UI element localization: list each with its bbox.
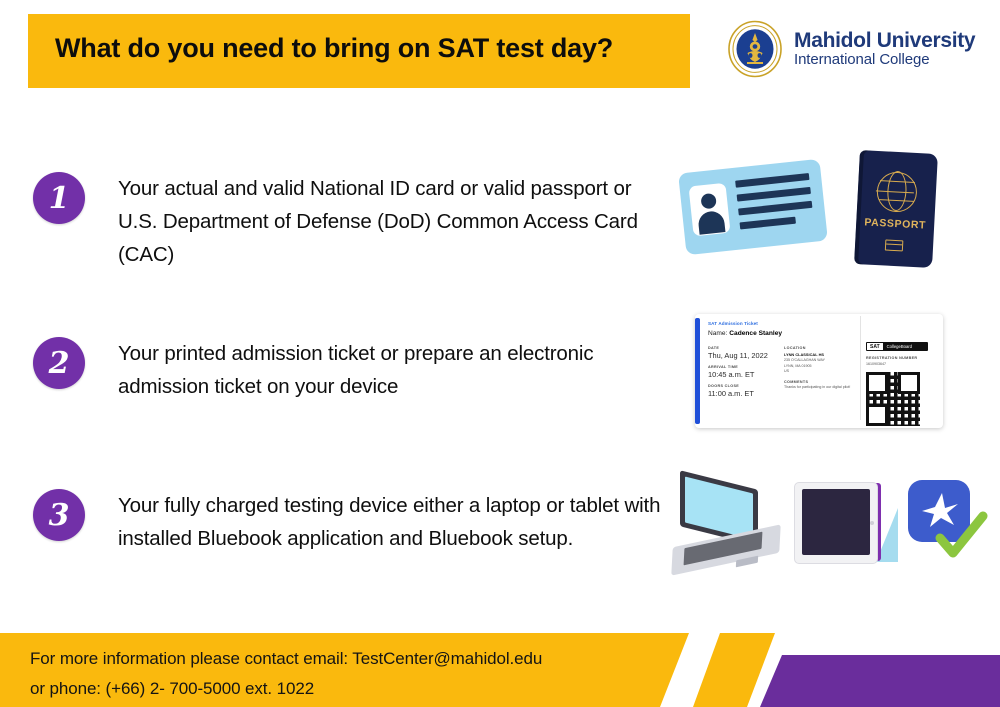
ticket-name-row: Name: Cadence Stanley <box>708 330 938 337</box>
ticket-column-registration: SAT CollegeBoard REGISTRATION NUMBER 161… <box>866 341 938 426</box>
passport-label: PASSPORT <box>856 216 935 232</box>
item-text: Your fully charged testing device either… <box>118 489 663 555</box>
sat-brand-label: SAT <box>866 342 884 351</box>
ticket-column-location: LOCATION LYNN CLASSICAL HS 235 O'CALLAGH… <box>784 341 866 426</box>
ticket-arrival-label: ARRIVAL TIME <box>708 365 784 369</box>
globe-icon <box>876 171 918 213</box>
list-item: 1 Your actual and valid National ID card… <box>33 172 658 272</box>
id-card-icon <box>678 159 828 255</box>
ticket-registration-value: 1610903647 <box>866 362 938 368</box>
admission-ticket-illustration: SAT Admission Ticket Name: Cadence Stanl… <box>695 314 945 432</box>
passport-chip-icon <box>885 239 904 251</box>
list-item: 3 Your fully charged testing device eith… <box>33 489 663 555</box>
ticket-doors-value: 11:00 a.m. ET <box>708 389 784 398</box>
ticket-location-country: US <box>784 369 789 373</box>
ticket-date-label: DATE <box>708 346 784 350</box>
green-check-icon <box>934 510 988 564</box>
item-text: Your actual and valid National ID card o… <box>118 172 658 272</box>
collegeboard-sat-logo: SAT CollegeBoard <box>866 342 928 351</box>
passport-icon: PASSPORT <box>854 150 938 268</box>
ticket-name-label: Name: <box>708 330 727 337</box>
page-footer: For more information please contact emai… <box>0 632 1000 707</box>
id-photo-icon <box>689 183 731 237</box>
item-number-badge: 1 <box>33 172 85 224</box>
footer-purple-shape <box>760 655 1000 707</box>
item-number-badge: 3 <box>33 489 85 541</box>
ticket-kicker: SAT Admission Ticket <box>708 321 938 326</box>
ticket-location-label: LOCATION <box>784 346 866 350</box>
item-text: Your printed admission ticket or prepare… <box>118 337 658 403</box>
collegeboard-brand-label: CollegeBoard <box>884 342 928 351</box>
laptop-icon <box>672 480 782 568</box>
devices-illustration <box>668 472 978 580</box>
ticket-location-street: 235 O'CALLAGHAN WAY <box>784 358 825 362</box>
footer-email-line: For more information please contact emai… <box>30 644 650 674</box>
footer-contact-text: For more information please contact emai… <box>30 644 650 705</box>
list-item: 2 Your printed admission ticket or prepa… <box>33 337 658 403</box>
ticket-doors-label: DOORS CLOSE <box>708 384 784 388</box>
tablet-icon <box>788 482 896 566</box>
ticket-date-value: Thu, Aug 11, 2022 <box>708 351 784 360</box>
ticket-location-city: LYNN, MA 01905 <box>784 364 812 368</box>
ticket-location-name: LYNN CLASSICAL HS <box>784 352 824 357</box>
item-number-badge: 2 <box>33 337 85 389</box>
qr-code-icon <box>866 372 920 426</box>
id-and-passport-illustration: PASSPORT <box>672 148 982 278</box>
ticket-column-times: DATE Thu, Aug 11, 2022 ARRIVAL TIME 10:4… <box>708 341 784 426</box>
footer-phone-line: or phone: (+66) 2- 700-5000 ext. 1022 <box>30 674 650 704</box>
ticket-comments-label: COMMENTS <box>784 380 866 384</box>
ticket-registration-label: REGISTRATION NUMBER <box>866 356 938 360</box>
sat-admission-ticket: SAT Admission Ticket Name: Cadence Stanl… <box>695 314 943 428</box>
ticket-arrival-value: 10:45 a.m. ET <box>708 370 784 379</box>
ticket-accent-bar <box>695 318 700 424</box>
ticket-comments-value: Thanks for participating in our digital … <box>784 385 866 391</box>
ticket-name-value: Cadence Stanley <box>729 330 782 337</box>
